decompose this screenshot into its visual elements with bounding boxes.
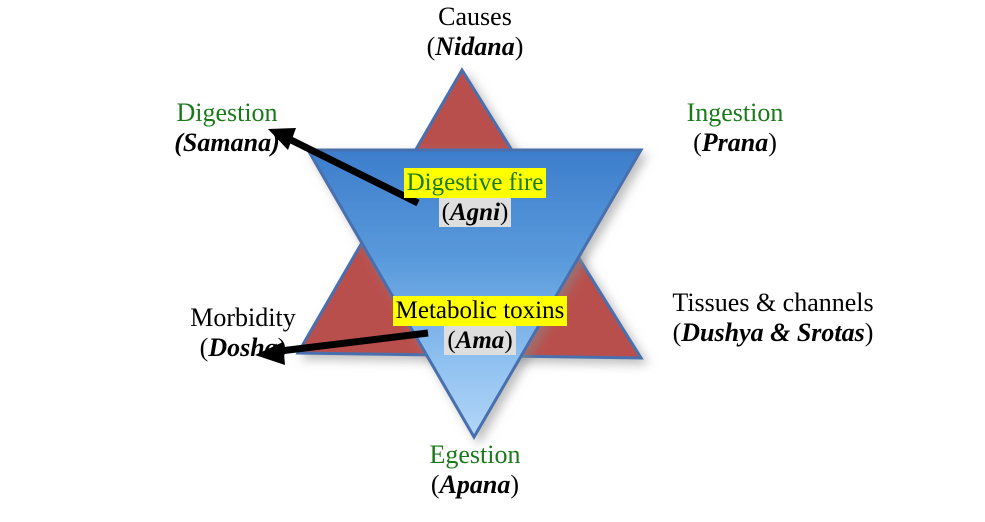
label-agni-secondary: (Agni) [439,198,512,228]
paren-close: ) [768,128,777,157]
paren-open: ( [174,128,183,157]
label-morbidity-primary: Morbidity [138,303,348,333]
label-egestion-term: Apana [440,470,511,499]
label-digestion: Digestion (Samana) [122,98,332,158]
paren-open: ( [693,128,702,157]
paren-close: ) [510,470,519,499]
paren-close: ) [271,128,280,157]
label-digestion-secondary: (Samana) [122,128,332,158]
label-tissues-secondary: (Dushya & Srotas) [648,318,898,348]
label-causes-secondary: (Nidana) [370,32,580,62]
paren-close: ) [278,333,287,362]
label-causes: Causes (Nidana) [370,2,580,62]
label-ingestion-term: Prana [702,128,768,157]
label-morbidity-secondary: (Dosha) [138,333,348,363]
paren-open: ( [431,470,440,499]
paren-open: ( [427,32,436,61]
paren-open: ( [442,199,450,226]
label-ama-primary: Metabolic toxins [393,296,568,326]
label-digestion-term: Samana [183,128,271,157]
label-egestion-secondary: (Apana) [370,470,580,500]
label-ingestion-primary: Ingestion [620,98,850,128]
label-agni-row-primary: Digestive fire [380,168,570,198]
label-digestive-fire: Digestive fire (Agni) [380,168,570,227]
label-digestion-primary: Digestion [122,98,332,128]
label-metabolic-toxins: Metabolic toxins (Ama) [380,296,580,355]
label-agni-primary: Digestive fire [404,168,547,198]
paren-open: ( [673,318,682,347]
label-causes-term: Nidana [435,32,514,61]
label-ama-secondary: (Ama) [444,326,515,356]
label-ama-term: Ama [456,327,505,354]
label-agni-term: Agni [450,199,500,226]
paren-open: ( [200,333,209,362]
label-ama-row-primary: Metabolic toxins [380,296,580,326]
paren-close: ) [515,32,524,61]
label-egestion: Egestion (Apana) [370,440,580,500]
label-agni-row-secondary: (Agni) [380,198,570,228]
label-ingestion-secondary: (Prana) [620,128,850,158]
label-morbidity-term: Dosha [208,333,277,362]
paren-open: ( [447,327,455,354]
label-egestion-primary: Egestion [370,440,580,470]
label-ama-row-secondary: (Ama) [380,326,580,356]
paren-close: ) [504,327,512,354]
paren-close: ) [500,199,508,226]
label-causes-primary: Causes [370,2,580,32]
label-tissues-primary: Tissues & channels [648,288,898,318]
label-morbidity: Morbidity (Dosha) [138,303,348,363]
label-ingestion: Ingestion (Prana) [620,98,850,158]
paren-close: ) [865,318,874,347]
label-tissues-channels: Tissues & channels (Dushya & Srotas) [648,288,898,348]
label-tissues-term: Dushya & Srotas [681,318,865,347]
